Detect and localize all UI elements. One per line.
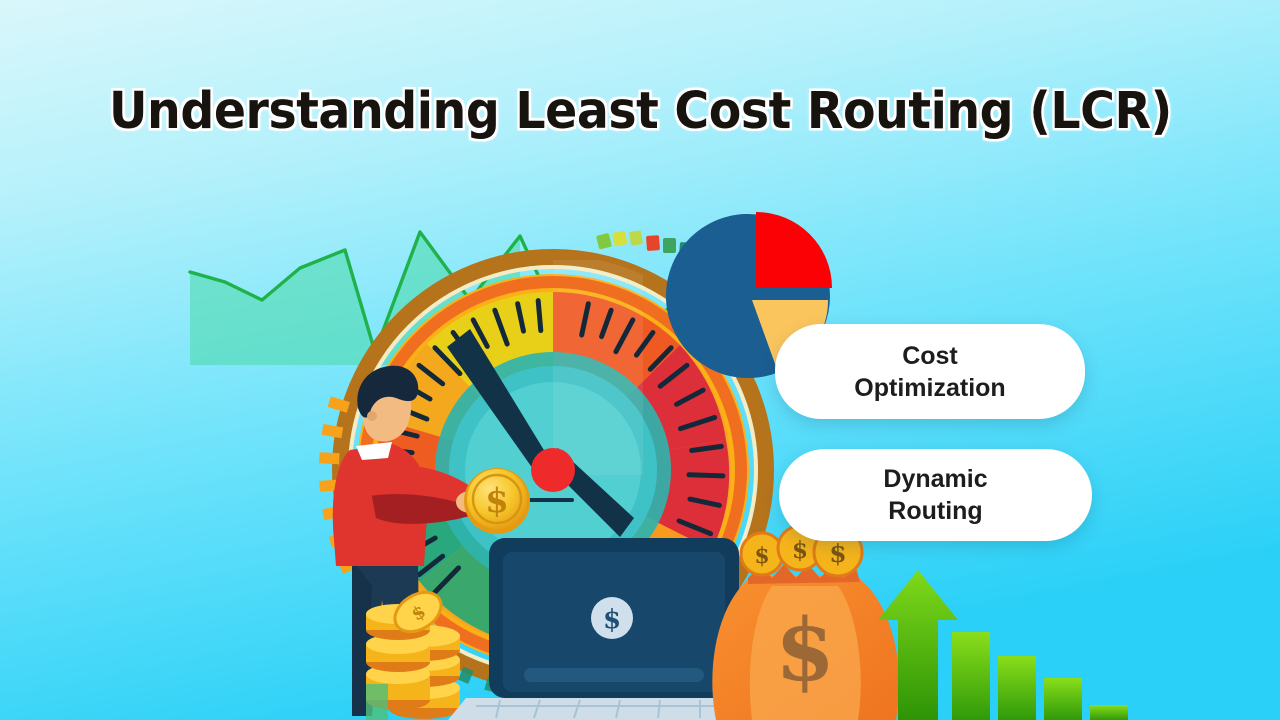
callout-card-dynamic-routing-line1: Dynamic: [883, 463, 987, 495]
svg-text:$: $: [754, 543, 769, 569]
svg-text:$: $: [775, 600, 835, 701]
svg-text:$: $: [792, 537, 808, 564]
callout-card-cost-optimization-line1: Cost: [854, 340, 1005, 372]
callout-card-cost-optimization-line2: Optimization: [854, 372, 1005, 404]
poster-canvas: $: [0, 0, 1280, 720]
dollar-coin: $: [464, 468, 530, 534]
svg-text:$: $: [829, 539, 846, 568]
callout-card-dynamic-routing-line2: Routing: [883, 495, 987, 527]
illustration-artwork: $: [0, 0, 1280, 720]
callout-card-cost-optimization[interactable]: Cost Optimization: [775, 324, 1085, 419]
svg-text:$: $: [603, 605, 621, 635]
callout-card-dynamic-routing[interactable]: Dynamic Routing: [779, 449, 1092, 541]
svg-text:$: $: [485, 481, 509, 521]
